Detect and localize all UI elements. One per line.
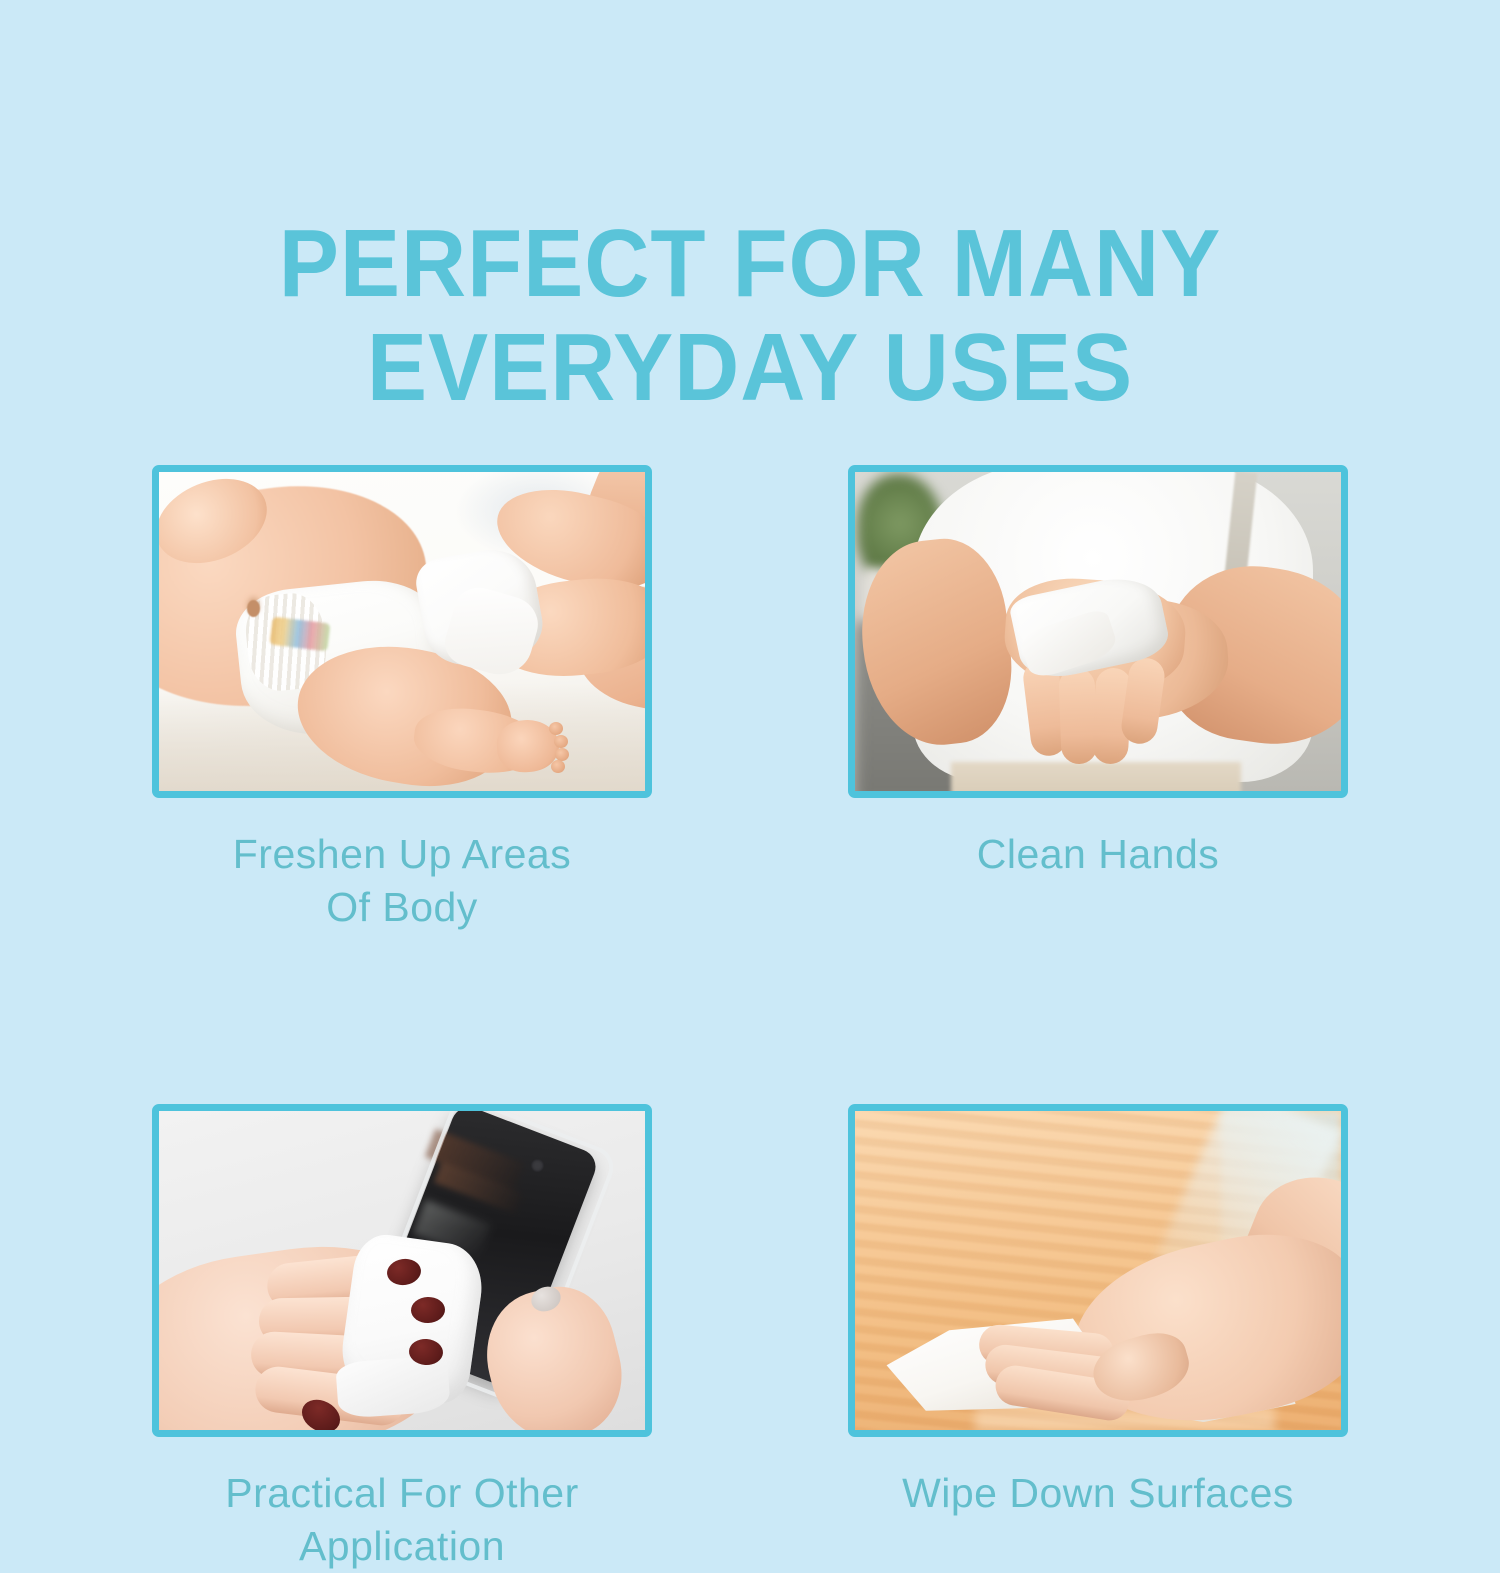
use-case-grid: Freshen Up Areas Of Body	[152, 465, 1348, 1573]
caption-wipe-down-surfaces: Wipe Down Surfaces	[848, 1467, 1348, 1520]
photo-surface-wipe	[855, 1111, 1341, 1430]
baby-toe	[554, 735, 568, 748]
use-case-card-clean-hands: Clean Hands	[848, 465, 1348, 934]
page-title-line-2: EVERYDAY USES	[45, 316, 1455, 420]
caption-line-1: Practical For Other	[152, 1467, 652, 1520]
infographic-page: PERFECT FOR MANY EVERYDAY USES	[0, 0, 1500, 1500]
caption-line-1: Wipe Down Surfaces	[848, 1467, 1348, 1520]
use-case-card-practical-for-other-application: Practical For Other Application	[152, 1104, 652, 1573]
photo-baby-wipe	[159, 472, 645, 791]
caption-line-2: Of Body	[152, 881, 652, 934]
baby-toe	[549, 722, 563, 735]
wet-wipe-fold	[335, 1355, 451, 1419]
use-case-card-wipe-down-surfaces: Wipe Down Surfaces	[848, 1104, 1348, 1573]
photo-frame-surface-wipe	[848, 1104, 1348, 1437]
photo-frame-clean-hands	[848, 465, 1348, 798]
use-case-card-freshen-up-areas-of-body: Freshen Up Areas Of Body	[152, 465, 652, 934]
photo-phone-wipe	[159, 1111, 645, 1430]
photo-clean-hands	[855, 472, 1341, 791]
caption-line-1: Freshen Up Areas	[152, 828, 652, 881]
photo-frame-baby-wipe	[152, 465, 652, 798]
caption-line-1: Clean Hands	[848, 828, 1348, 881]
photo-frame-phone-wipe	[152, 1104, 652, 1437]
caption-freshen-up-areas-of-body: Freshen Up Areas Of Body	[152, 828, 652, 934]
finger	[1058, 667, 1097, 764]
baby-navel	[247, 600, 260, 617]
caption-line-2: Application	[152, 1520, 652, 1573]
page-title: PERFECT FOR MANY EVERYDAY USES	[45, 212, 1455, 420]
caption-clean-hands: Clean Hands	[848, 828, 1348, 881]
beige-pants	[951, 762, 1241, 791]
baby-toe	[551, 760, 565, 773]
page-title-line-1: PERFECT FOR MANY	[45, 212, 1455, 316]
caption-practical-for-other-application: Practical For Other Application	[152, 1467, 652, 1573]
